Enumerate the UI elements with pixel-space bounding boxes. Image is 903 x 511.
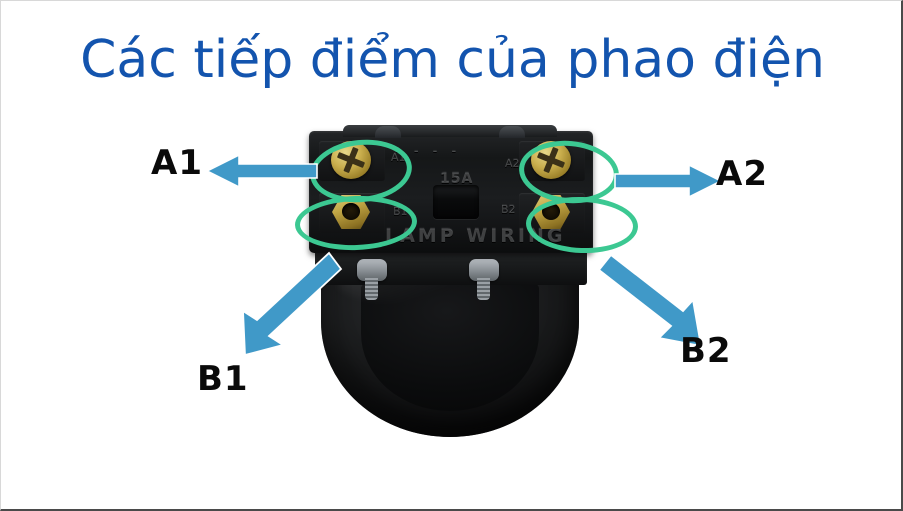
diagram-canvas: Các tiếp điểm của phao điện - - - - 15A … [0, 0, 903, 511]
label-a2: A2 [716, 154, 768, 194]
mounting-bolt-right [469, 259, 499, 281]
arrow-b1 [237, 251, 357, 361]
block-recess-slot [433, 185, 479, 219]
molded-label-a2: A2 [505, 157, 520, 170]
arrow-a1 [207, 153, 317, 189]
label-b1: B1 [197, 359, 249, 399]
cap-nub-left [375, 126, 401, 138]
mounting-bolt-left [357, 259, 387, 281]
arrow-a2 [615, 163, 721, 199]
page-title: Các tiếp điểm của phao điện [1, 29, 903, 91]
cap-nub-right [499, 126, 525, 138]
molded-label-b2: B2 [501, 203, 516, 216]
label-a1: A1 [151, 143, 203, 183]
label-b2: B2 [680, 331, 732, 371]
body-recess [361, 283, 539, 411]
